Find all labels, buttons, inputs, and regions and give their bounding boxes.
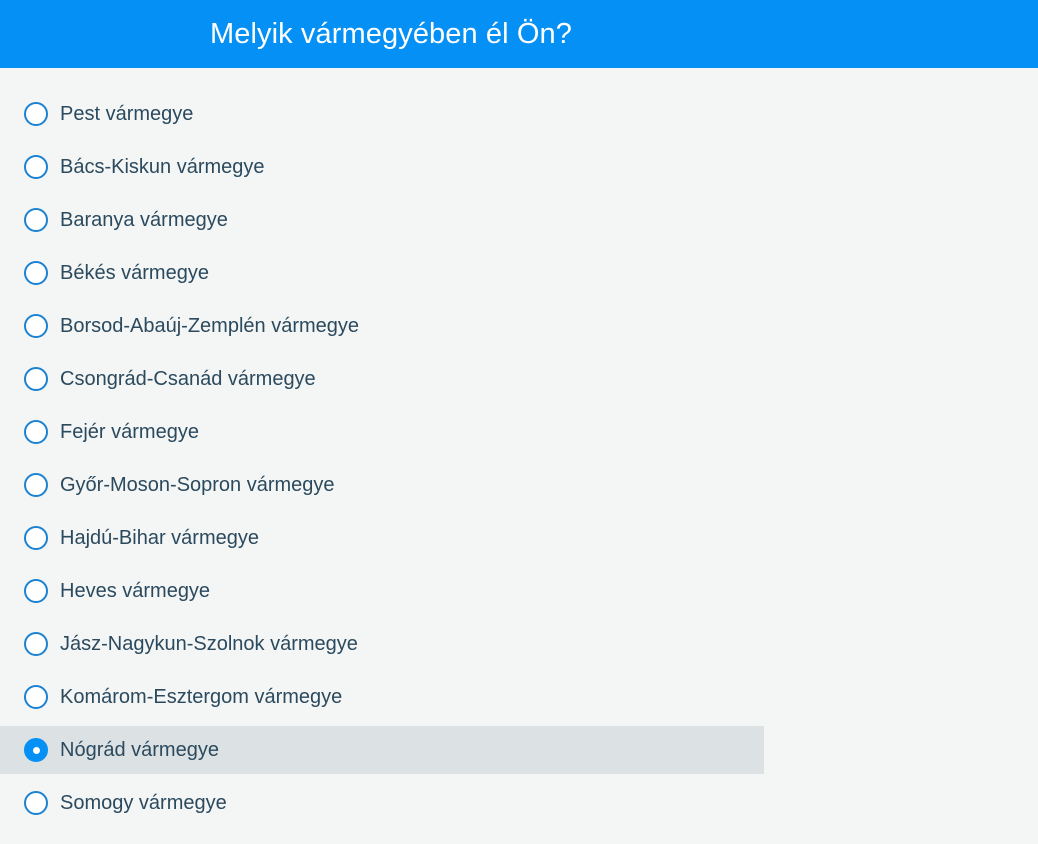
radio-unselected-icon[interactable]	[24, 526, 48, 550]
radio-option-label: Csongrád-Csanád vármegye	[60, 367, 316, 391]
radio-unselected-icon[interactable]	[24, 208, 48, 232]
radio-unselected-icon[interactable]	[24, 155, 48, 179]
radio-option-row[interactable]: Nógrád vármegye	[0, 726, 764, 774]
radio-unselected-icon[interactable]	[24, 367, 48, 391]
radio-option-label: Nógrád vármegye	[60, 738, 219, 762]
radio-option-label: Heves vármegye	[60, 579, 210, 603]
radio-unselected-icon[interactable]	[24, 685, 48, 709]
radio-option-label: Jász-Nagykun-Szolnok vármegye	[60, 632, 358, 656]
radio-option-row[interactable]: Heves vármegye	[0, 567, 764, 615]
radio-option-label: Fejér vármegye	[60, 420, 199, 444]
radio-option-row[interactable]: Bács-Kiskun vármegye	[0, 143, 764, 191]
page-title: Melyik vármegyében él Ön?	[0, 17, 572, 51]
radio-option-row[interactable]: Fejér vármegye	[0, 408, 764, 456]
radio-option-label: Győr-Moson-Sopron vármegye	[60, 473, 335, 497]
survey-header: Melyik vármegyében él Ön?	[0, 0, 1038, 68]
radio-option-row[interactable]: Győr-Moson-Sopron vármegye	[0, 461, 764, 509]
radio-option-label: Hajdú-Bihar vármegye	[60, 526, 259, 550]
radio-option-label: Borsod-Abaúj-Zemplén vármegye	[60, 314, 359, 338]
radio-unselected-icon[interactable]	[24, 473, 48, 497]
radio-option-row[interactable]: Hajdú-Bihar vármegye	[0, 514, 764, 562]
radio-option-row[interactable]: Pest vármegye	[0, 90, 764, 138]
radio-unselected-icon[interactable]	[24, 261, 48, 285]
radio-option-list: Pest vármegyeBács-Kiskun vármegyeBaranya…	[0, 90, 1038, 827]
radio-option-label: Baranya vármegye	[60, 208, 228, 232]
radio-option-row[interactable]: Borsod-Abaúj-Zemplén vármegye	[0, 302, 764, 350]
radio-unselected-icon[interactable]	[24, 314, 48, 338]
radio-option-row[interactable]: Jász-Nagykun-Szolnok vármegye	[0, 620, 764, 668]
radio-option-label: Komárom-Esztergom vármegye	[60, 685, 342, 709]
radio-unselected-icon[interactable]	[24, 420, 48, 444]
question-body: Pest vármegyeBács-Kiskun vármegyeBaranya…	[0, 68, 1038, 827]
radio-unselected-icon[interactable]	[24, 791, 48, 815]
radio-option-row[interactable]: Komárom-Esztergom vármegye	[0, 673, 764, 721]
radio-option-row[interactable]: Csongrád-Csanád vármegye	[0, 355, 764, 403]
radio-option-label: Békés vármegye	[60, 261, 209, 285]
radio-option-label: Bács-Kiskun vármegye	[60, 155, 265, 179]
radio-option-row[interactable]: Békés vármegye	[0, 249, 764, 297]
radio-unselected-icon[interactable]	[24, 579, 48, 603]
radio-option-row[interactable]: Baranya vármegye	[0, 196, 764, 244]
radio-option-label: Pest vármegye	[60, 102, 193, 126]
radio-unselected-icon[interactable]	[24, 102, 48, 126]
radio-unselected-icon[interactable]	[24, 632, 48, 656]
radio-option-row[interactable]: Somogy vármegye	[0, 779, 764, 827]
radio-option-label: Somogy vármegye	[60, 791, 227, 815]
radio-selected-icon[interactable]	[24, 738, 48, 762]
